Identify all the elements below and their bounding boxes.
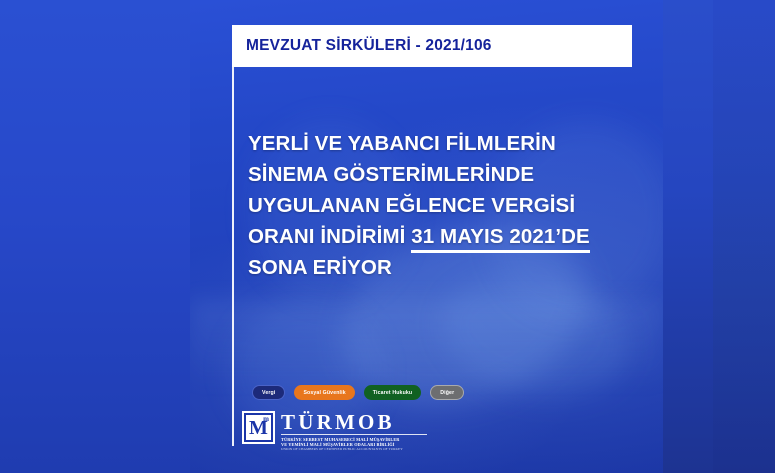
tag-list: Vergi Sosyal Güvenlik Ticaret Hukuku Diğ… [252,385,464,400]
turmob-logo-text: TÜRMOB TÜRKİYE SERBEST MUHASEBECİ MALİ M… [281,411,427,452]
headline-date-underlined: 31 MAYIS 2021’DE [411,225,590,253]
headline-line-4: ORANI İNDİRİMİ 31 MAYIS 2021’DE [248,221,628,252]
turmob-subtitle-line-3: UNION OF CHAMBERS OF CERTIFIED PUBLIC AC… [281,447,427,452]
tag-vergi[interactable]: Vergi [252,385,285,400]
turmob-logo-mark-inner: M m [244,413,273,442]
tag-diger-label: Diğer [440,390,454,396]
tag-sosyal-guvenlik-label: Sosyal Güvenlik [303,390,345,396]
poster-card: MEVZUAT SİRKÜLERİ - 2021/106 YERLİ VE YA… [190,0,663,473]
turmob-logo: M m TÜRMOB TÜRKİYE SERBEST MUHASEBECİ MA… [242,411,427,452]
turmob-logo-divider [281,434,427,435]
tag-ticaret-hukuku-label: Ticaret Hukuku [373,390,412,396]
headline-line-5: SONA ERİYOR [248,252,628,283]
headline-line-4-prefix: ORANI İNDİRİMİ [248,225,411,248]
backdrop-left-band [0,0,190,473]
headline-block: YERLİ VE YABANCI FİLMLERİN SİNEMA GÖSTER… [248,128,628,283]
title-bar: MEVZUAT SİRKÜLERİ - 2021/106 [232,25,632,67]
tag-diger[interactable]: Diğer [430,385,464,400]
page-title: MEVZUAT SİRKÜLERİ - 2021/106 [232,37,492,55]
turmob-wordmark: TÜRMOB [281,412,427,433]
left-vertical-rule [232,67,234,446]
poster-stage: MEVZUAT SİRKÜLERİ - 2021/106 YERLİ VE YA… [0,0,775,473]
turmob-logo-superscript-m: m [263,416,269,423]
turmob-logo-mark-icon: M m [242,411,275,444]
tag-sosyal-guvenlik[interactable]: Sosyal Güvenlik [294,385,354,400]
headline-line-1: YERLİ VE YABANCI FİLMLERİN [248,128,628,159]
headline-line-2: SİNEMA GÖSTERİMLERİNDE [248,159,628,190]
tag-vergi-label: Vergi [262,390,275,396]
tag-ticaret-hukuku[interactable]: Ticaret Hukuku [364,385,421,400]
headline-line-3: UYGULANAN EĞLENCE VERGİSİ [248,190,628,221]
background-sheen [190,300,663,390]
backdrop-right-seam [713,0,775,473]
